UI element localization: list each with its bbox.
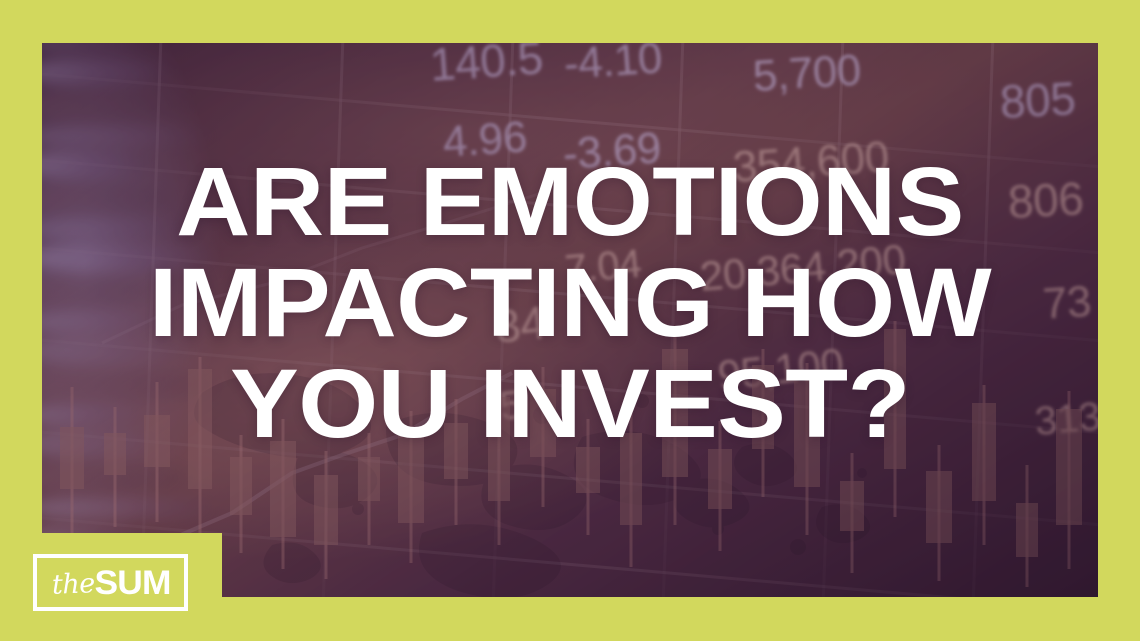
photo-tint xyxy=(42,43,1098,597)
logo-box: the SUM xyxy=(33,554,188,611)
poster-card: 140.5-4.105,7008054.96-3.69354,6008067.0… xyxy=(0,0,1140,641)
background-photo: 140.5-4.105,7008054.96-3.69354,6008067.0… xyxy=(42,43,1098,597)
logo-the-text: the xyxy=(52,570,96,598)
brand-logo[interactable]: the SUM xyxy=(31,544,200,621)
logo-sum-text: SUM xyxy=(94,566,170,600)
